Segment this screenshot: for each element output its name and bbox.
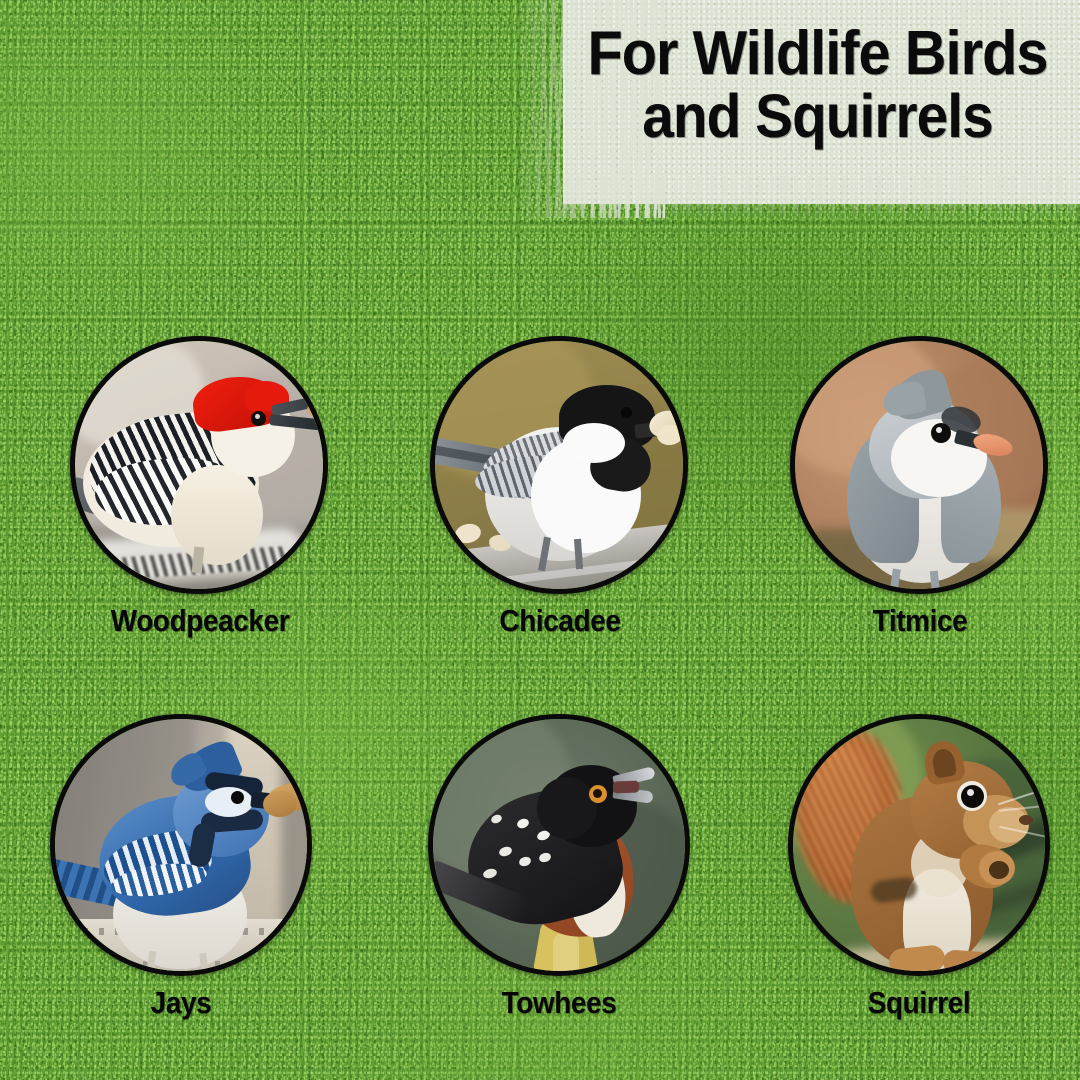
caption-jays: Jays [63, 985, 299, 1021]
titmice-photo [795, 341, 1043, 589]
banner-brush-bottom-edge [563, 176, 1080, 218]
woodpecker-photo [75, 341, 323, 589]
woodpecker-photo-circle[interactable] [70, 336, 328, 594]
jays-photo-circle[interactable] [50, 714, 312, 976]
titmice-photo-circle[interactable] [790, 336, 1048, 594]
jays-photo [55, 719, 307, 971]
poster-canvas: For Wildlife Birds and Squirrels [0, 0, 1080, 1080]
chickadee-photo-circle[interactable] [430, 336, 688, 594]
squirrel-photo-circle[interactable] [788, 714, 1050, 976]
gallery-item-woodpecker[interactable]: Woodpeacker [70, 336, 330, 639]
gallery-item-squirrel[interactable]: Squirrel [788, 714, 1050, 1021]
caption-chickadee: Chicadee [443, 603, 677, 639]
gallery-item-jays[interactable]: Jays [50, 714, 312, 1021]
caption-squirrel: Squirrel [801, 985, 1037, 1021]
gallery-item-towhees[interactable]: Towhees [428, 714, 690, 1021]
headline-line-2: and Squirrels [581, 85, 1054, 147]
chickadee-photo [435, 341, 683, 589]
caption-titmice: Titmice [803, 603, 1037, 639]
headline-line-1: For Wildlife Birds [581, 22, 1054, 85]
gallery-item-chickadee[interactable]: Chicadee [430, 336, 690, 639]
caption-towhees: Towhees [441, 985, 677, 1021]
caption-woodpecker: Woodpeacker [83, 603, 317, 639]
headline-text: For Wildlife Birds and Squirrels [581, 22, 1054, 147]
squirrel-photo [793, 719, 1045, 971]
towhees-photo-circle[interactable] [428, 714, 690, 976]
headline-banner: For Wildlife Birds and Squirrels [515, 0, 1080, 218]
gallery-item-titmice[interactable]: Titmice [790, 336, 1050, 639]
towhees-photo [433, 719, 685, 971]
